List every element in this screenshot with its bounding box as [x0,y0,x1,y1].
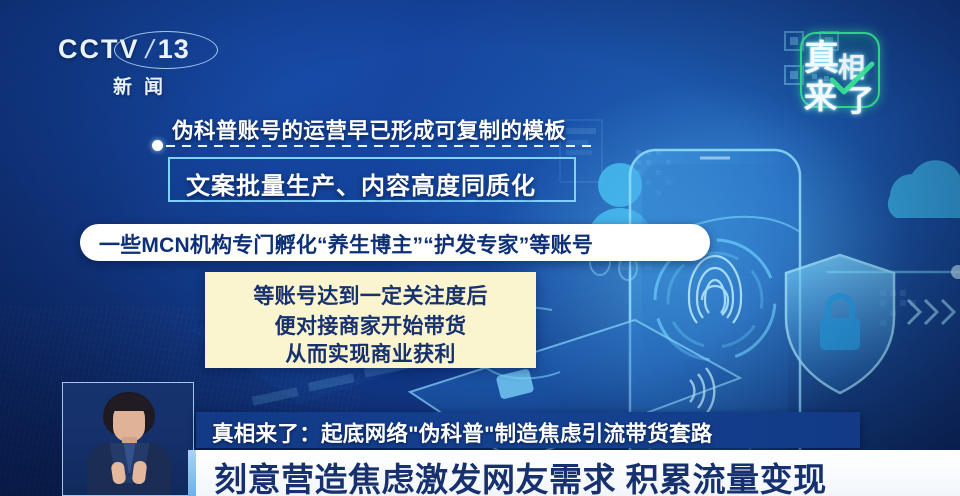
yellow-line-3: 从而实现商业获利 [205,338,536,368]
lower-third-subtitle: 真相来了：起底网络"伪科普"制造焦虑引流带货套路 [212,417,713,448]
lower-third-headline-bar: 刻意营造焦虑激发网友需求 积累流量变现 [196,450,960,496]
point-box-2: 文案批量生产、内容高度同质化 [168,157,576,202]
point-pill-3: 一些MCN机构专门孵化“养生博主”“护发专家”等账号 [80,224,710,261]
lower-third-subtitle-bar: 真相来了：起底网络"伪科普"制造焦虑引流带货套路 [196,412,860,448]
lower-third-headline: 刻意营造焦虑激发网友需求 积累流量变现 [214,453,827,496]
program-logo: 真 相 来 了 [790,24,900,118]
point-line-1: 伪科普账号的运营早已形成可复制的模板 [172,114,566,145]
anchor-fringe [109,395,149,411]
cctv-channel-logo: CCTV / 13 新闻 [58,34,218,106]
point-line-2: 文案批量生产、内容高度同质化 [186,166,536,201]
point-line-3: 一些MCN机构专门孵化“养生博主”“护发专家”等账号 [99,229,593,259]
bullet-dot-icon [152,140,163,151]
broadcast-screen: CCTV / 13 新闻 真 相 来 了 伪科普账号的运营早已形成可复制的模板 … [0,0,960,496]
dashed-divider [166,145,596,147]
yellow-line-2: 便对接商家开始带货 [205,310,536,340]
yellow-line-1: 等账号达到一定关注度后 [205,280,536,310]
yellow-callout-panel: 等账号达到一定关注度后 便对接商家开始带货 从而实现商业获利 [205,272,536,368]
cctv-oval-outline [114,31,218,69]
green-check-icon [826,60,878,100]
cctv-logo-row: CCTV / 13 [58,34,218,65]
sign-language-interpreter-inset [62,382,194,496]
cctv-subtitle: 新闻 [58,72,218,99]
